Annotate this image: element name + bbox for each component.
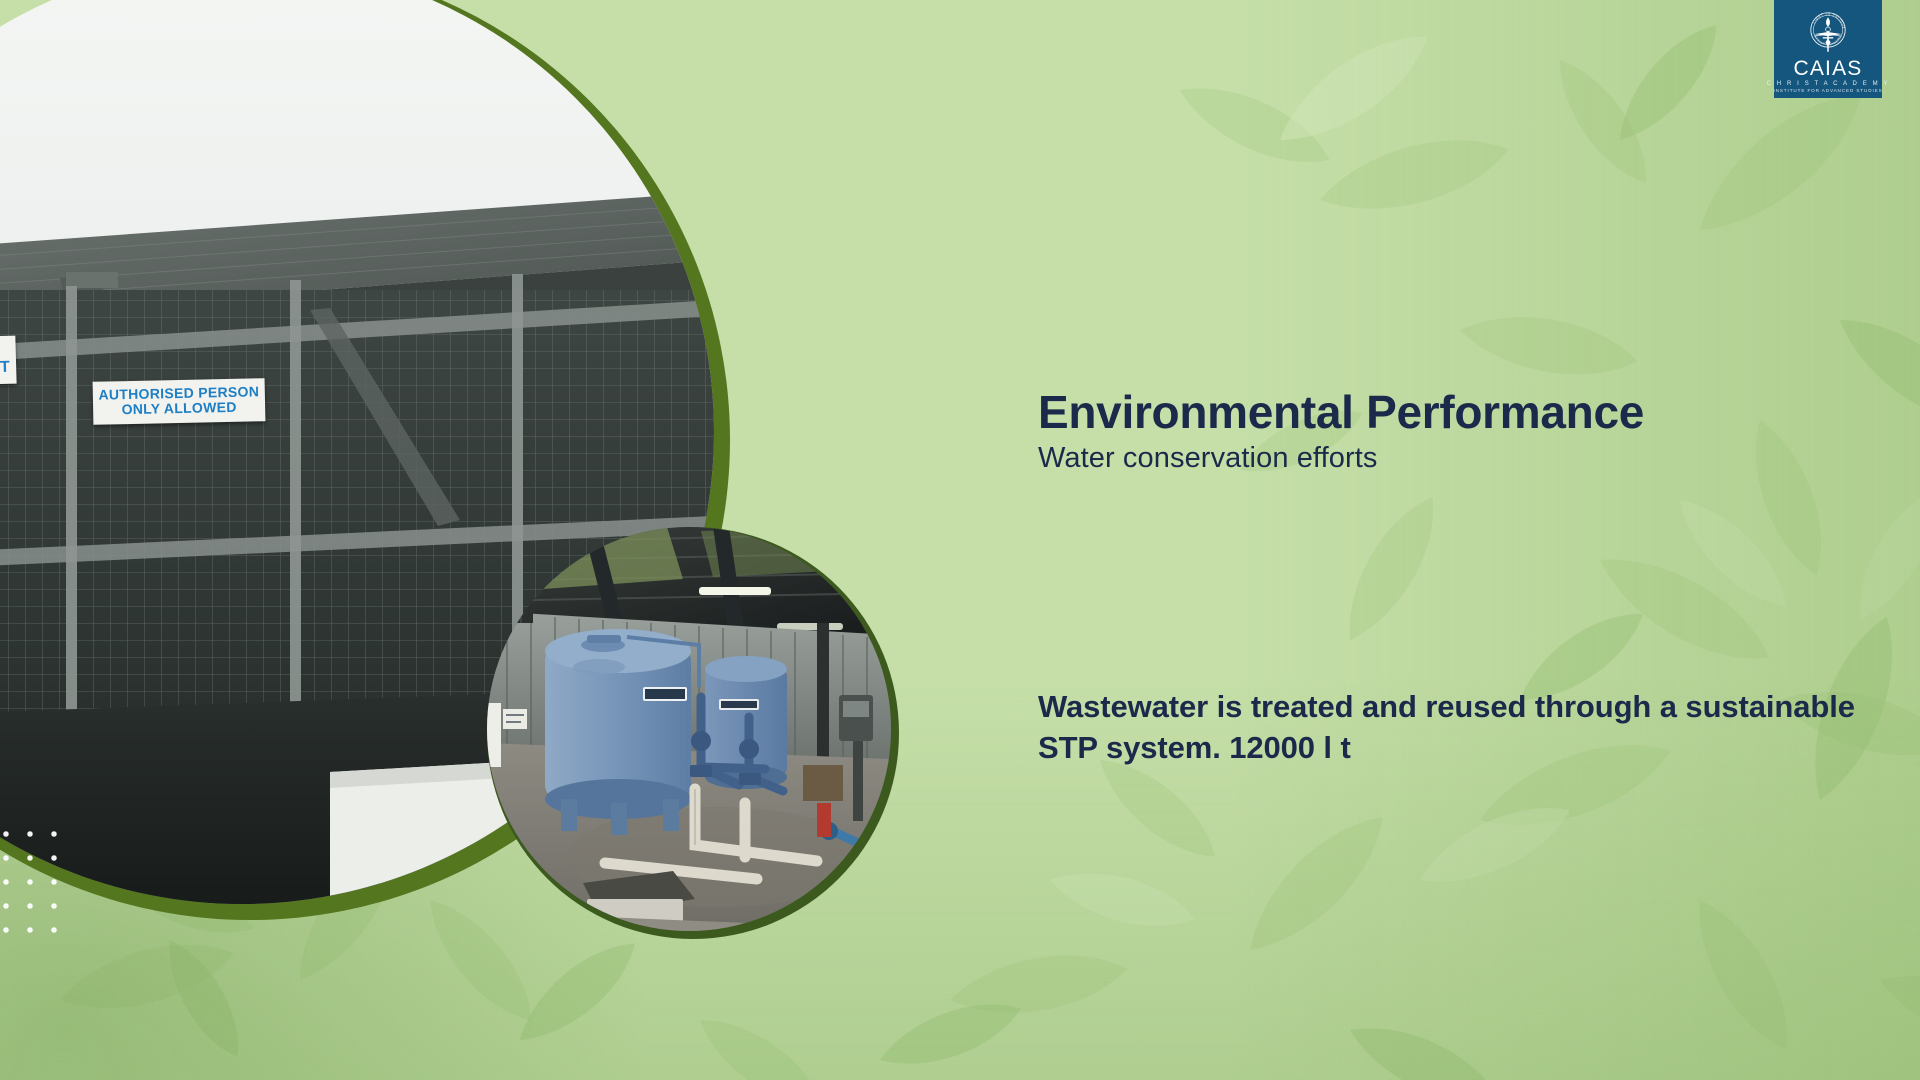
secondary-photo-image: [487, 527, 891, 931]
slide-canvas: SEWAGE TREATMENT PLANT AUTHORISED PERSON…: [0, 0, 1920, 1080]
sign-authorised-person-only: AUTHORISED PERSON ONLY ALLOWED: [93, 378, 266, 425]
page-title: Environmental Performance: [1038, 388, 1848, 436]
page-subtitle: Water conservation efforts: [1038, 442, 1848, 475]
body-block: Wastewater is treated and reused through…: [1038, 686, 1858, 768]
logo-acronym: CAIAS: [1793, 58, 1862, 79]
sign-sewage-line2: TREATMENT PLANT: [0, 359, 12, 381]
sign-sewage-treatment-plant: SEWAGE TREATMENT PLANT: [0, 336, 17, 388]
sign-authorised-line2: ONLY ALLOWED: [97, 399, 261, 418]
svg-text:LIGHT TO ENLIGHTEN: LIGHT TO ENLIGHTEN: [1801, 7, 1846, 29]
crest-icon: LIGHT TO ENLIGHTEN CHRIST ACADEMY: [1801, 7, 1855, 57]
institution-logo: LIGHT TO ENLIGHTEN CHRIST ACADEMY CAIAS …: [1774, 0, 1882, 98]
secondary-photo-circle: [487, 527, 899, 939]
logo-line-2: INSTITUTE FOR ADVANCED STUDIES: [1773, 88, 1882, 93]
body-paragraph: Wastewater is treated and reused through…: [1038, 686, 1858, 768]
heading-block: Environmental Performance Water conserva…: [1038, 388, 1848, 476]
logo-line-1: C H R I S T A C A D E M Y: [1767, 81, 1890, 87]
